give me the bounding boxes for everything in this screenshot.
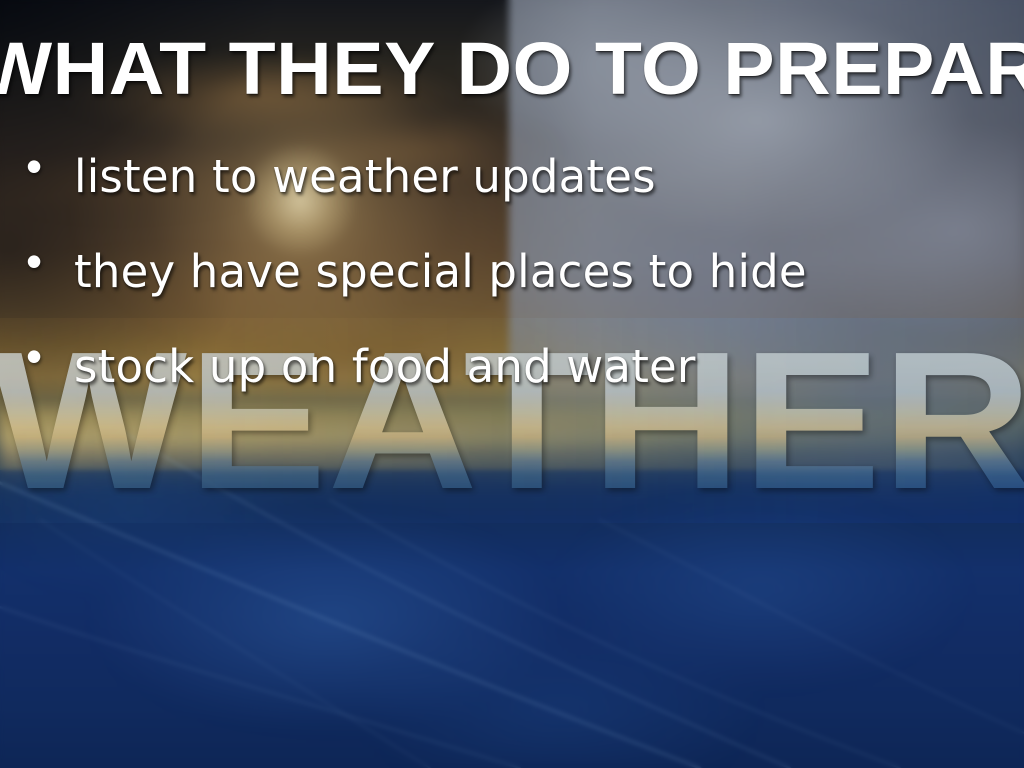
bullet-text: listen to weather updates	[74, 152, 1000, 202]
bullet-text: they have special places to hide	[74, 247, 1000, 297]
bullet-marker-icon: •	[20, 238, 74, 284]
bullet-text: stock up on food and water	[74, 342, 1000, 392]
slide-content: WHAT THEY DO TO PREPARE • listen to weat…	[0, 0, 1024, 768]
bullet-list: • listen to weather updates • they have …	[20, 152, 1000, 437]
slide-title: WHAT THEY DO TO PREPARE	[0, 30, 1024, 108]
presentation-slide: WEATHER WHAT THEY DO TO PREPARE • listen…	[0, 0, 1024, 768]
bullet-marker-icon: •	[20, 333, 74, 379]
bullet-list-item: • they have special places to hide	[20, 247, 1000, 342]
bullet-marker-icon: •	[20, 143, 74, 189]
bullet-list-item: • listen to weather updates	[20, 152, 1000, 247]
bullet-list-item: • stock up on food and water	[20, 342, 1000, 437]
